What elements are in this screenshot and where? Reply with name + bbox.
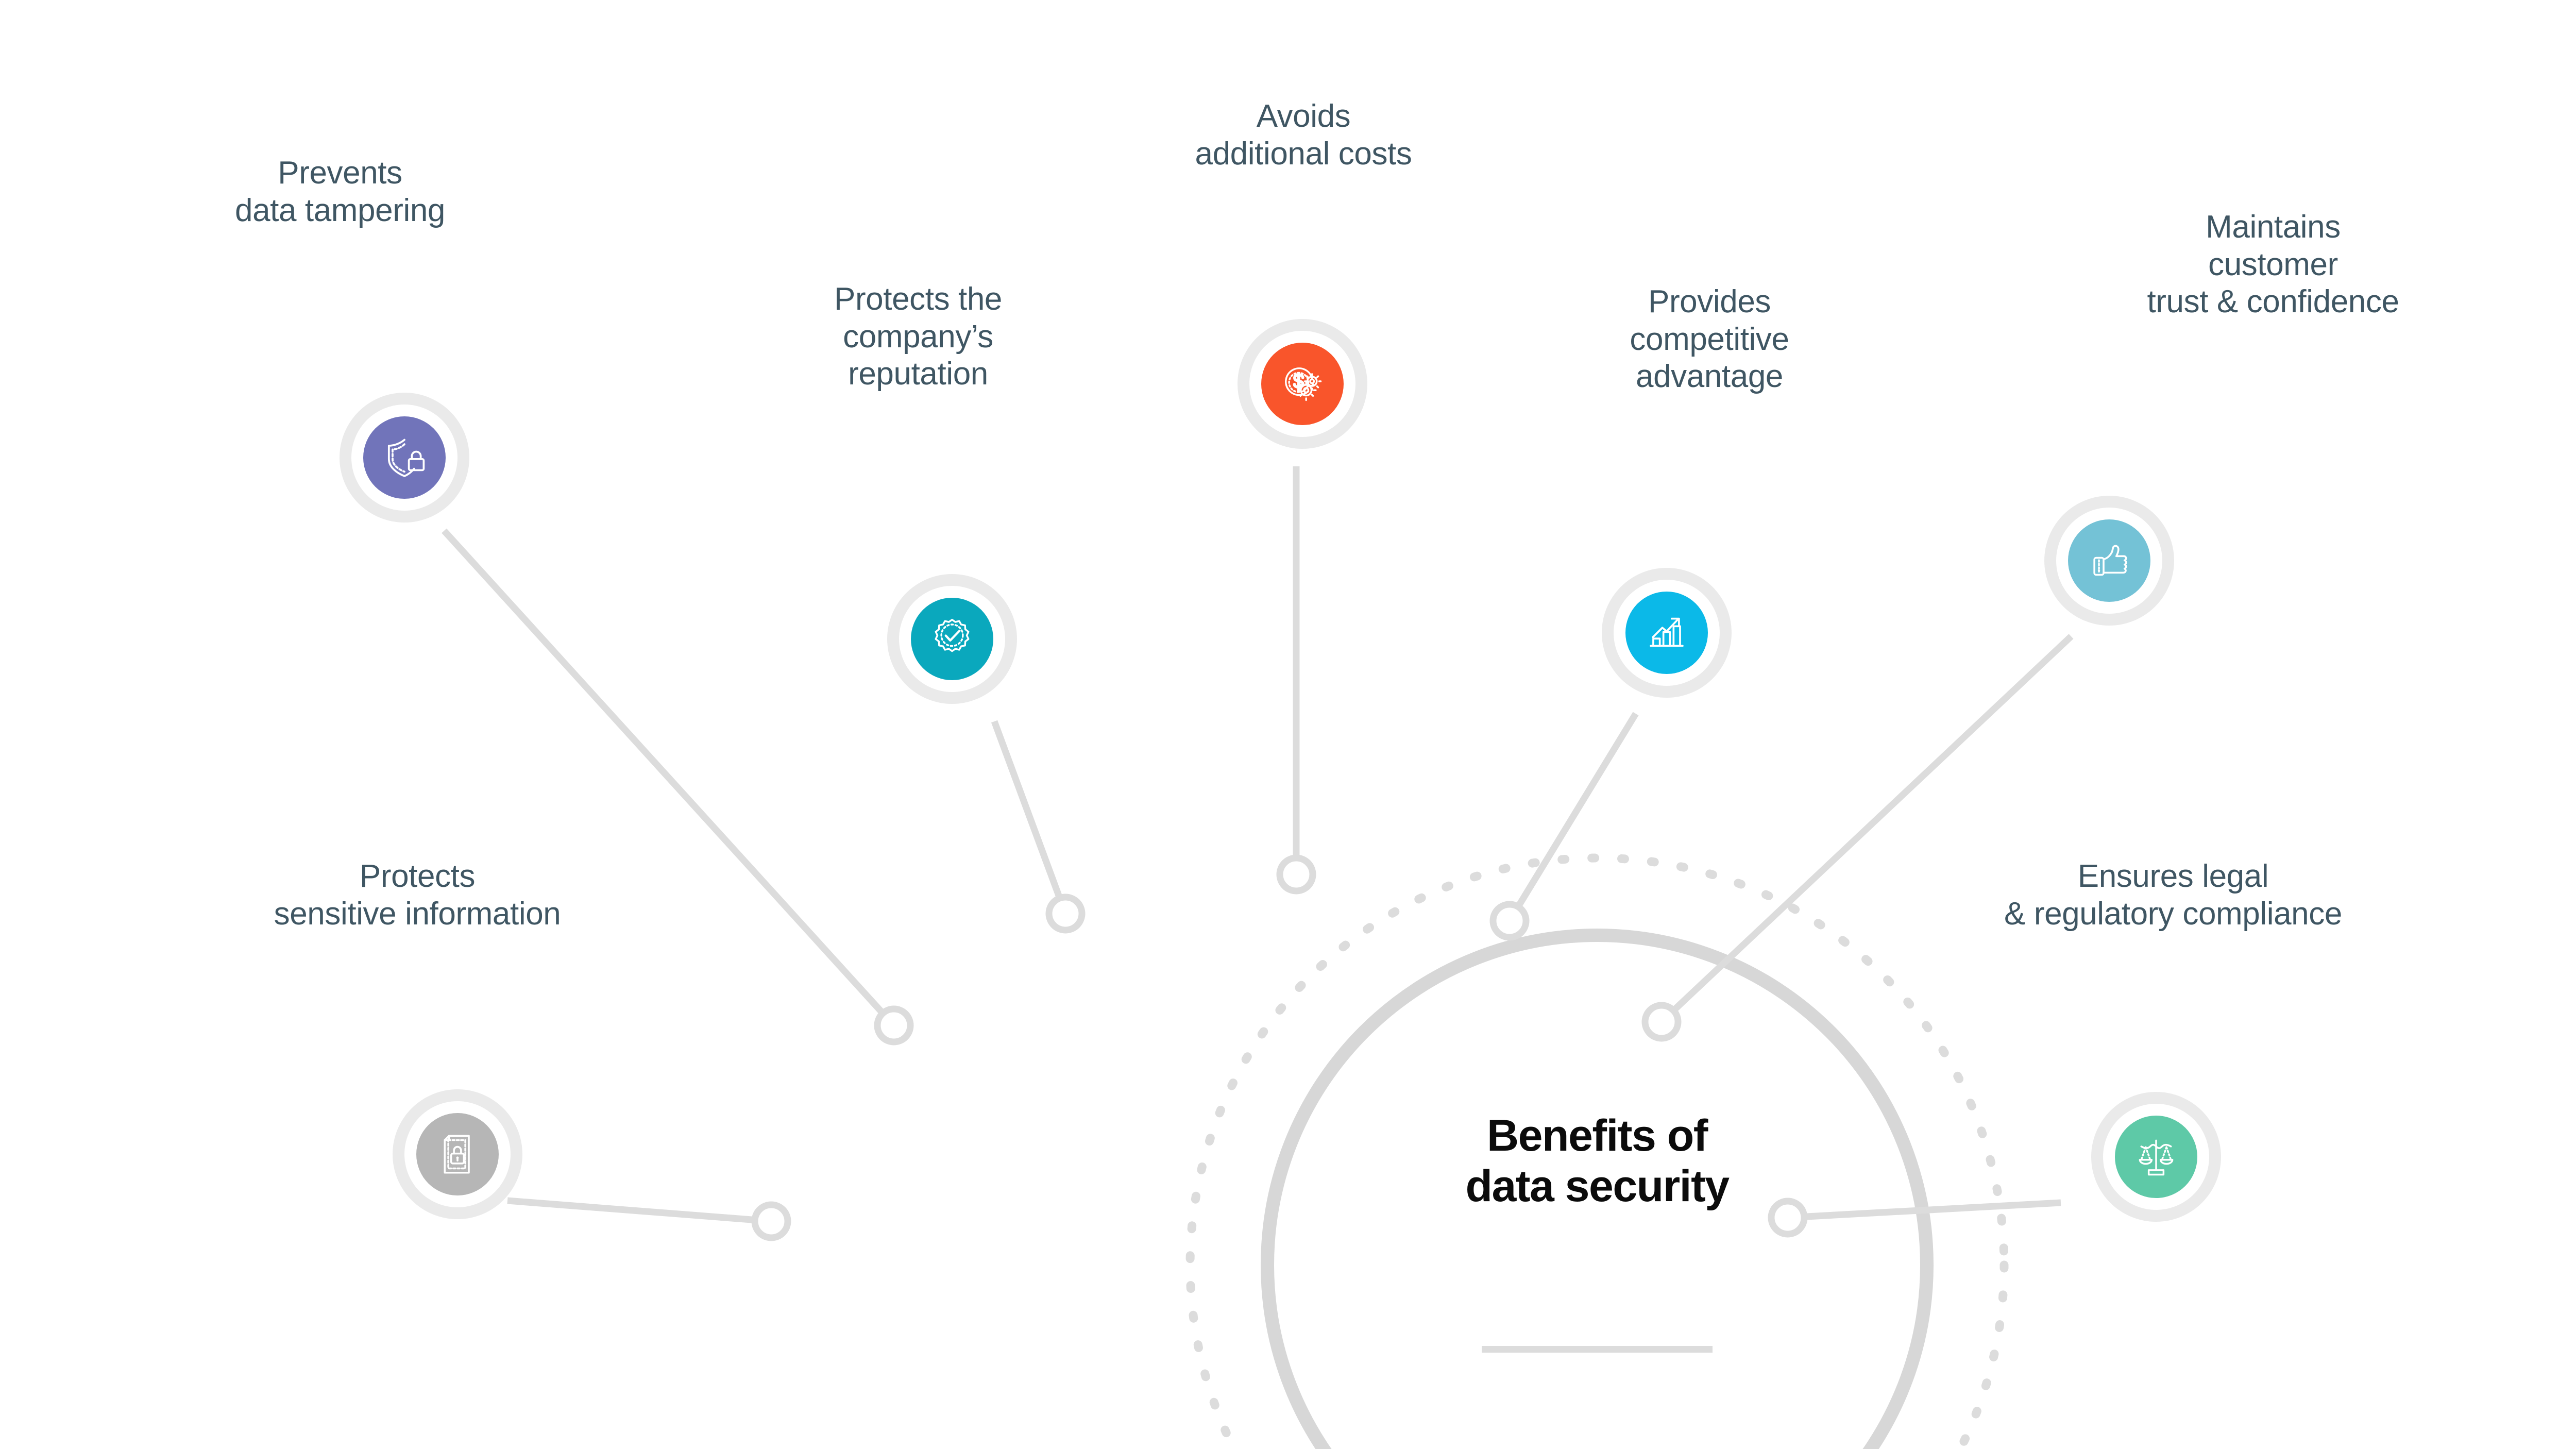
scales-balance-icon (2115, 1116, 2197, 1198)
stem-protects-reputation (994, 721, 1065, 914)
label-prevents-data-tampering: Prevents data tampering (235, 155, 445, 229)
label-protects-sensitive-information: Protects sensitive information (274, 858, 561, 933)
growth-chart-icon (1625, 592, 1708, 674)
label-protects-company-reputation: Protects the company’s reputation (834, 281, 1002, 393)
label-ensures-legal-compliance: Ensures legal & regulatory compliance (2004, 858, 2342, 933)
money-gears-icon (1261, 343, 1344, 425)
label-provides-competitive-advantage: Provides competitive advantage (1630, 283, 1789, 396)
page-title: Benefits of data security (1465, 1110, 1728, 1211)
document-lock-icon (416, 1113, 499, 1195)
badge-check-icon (911, 598, 993, 680)
dot-protects-sensitive-info (755, 1205, 788, 1238)
stem-protects-sensitive-info (507, 1201, 771, 1221)
dot-competitive-advantage (1493, 904, 1526, 937)
dot-protects-reputation (1049, 897, 1082, 930)
dot-legal-compliance (1771, 1201, 1804, 1234)
dot-customer-trust (1645, 1005, 1678, 1038)
label-avoids-additional-costs: Avoids additional costs (1195, 98, 1412, 173)
thumbs-up-icon (2068, 519, 2150, 602)
stem-competitive-advantage (1510, 714, 1636, 921)
stem-prevents-data-tampering (444, 531, 894, 1025)
label-maintains-customer-trust: Maintains customer trust & confidence (2147, 209, 2399, 321)
dot-avoids-costs (1280, 858, 1313, 891)
shield-lock-icon (363, 416, 446, 499)
infographic-canvas: Benefits of data security Prevents data … (0, 0, 2576, 1449)
dot-prevents-data-tampering (877, 1009, 910, 1042)
connector-stems (444, 466, 2071, 1221)
title-underline-rule (1482, 1346, 1713, 1353)
